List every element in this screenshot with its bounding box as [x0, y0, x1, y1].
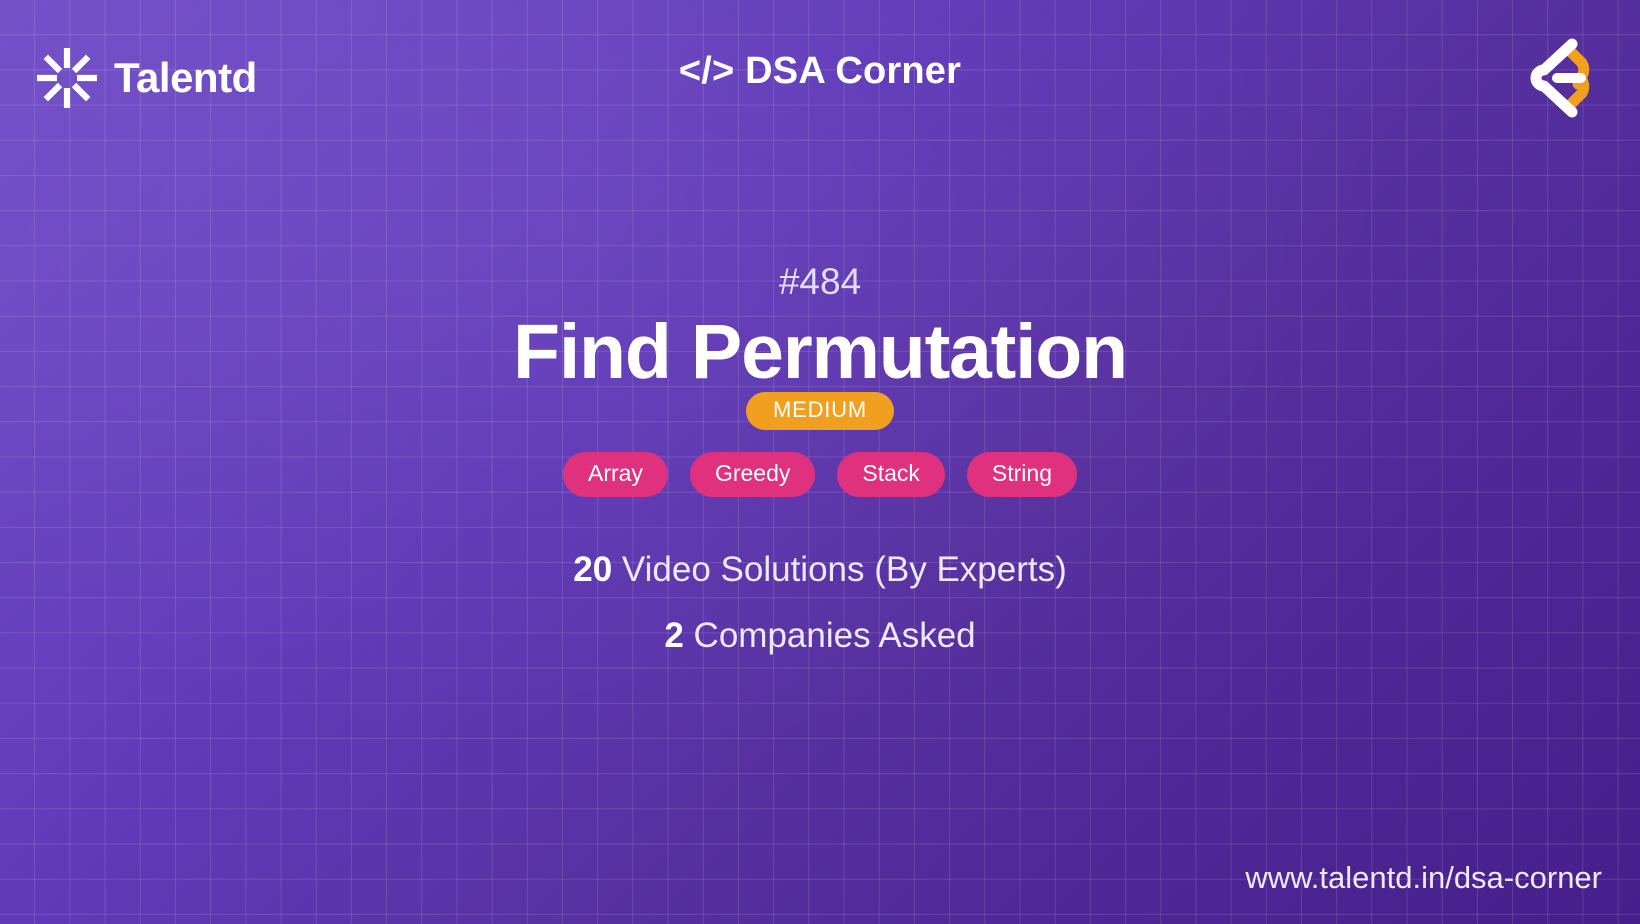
tag-pill[interactable]: String — [967, 452, 1077, 497]
tag-pill[interactable]: Greedy — [690, 452, 815, 497]
stat-value: 20 — [573, 550, 612, 589]
tag-pill[interactable]: Stack — [837, 452, 945, 497]
stat-companies-asked: 2 Companies Asked — [0, 603, 1640, 670]
stat-label: Video Solutions (By Experts) — [622, 550, 1067, 589]
difficulty-row: MEDIUM — [0, 392, 1640, 430]
stat-value: 2 — [664, 616, 683, 655]
brand-logo[interactable]: Talentd — [36, 47, 257, 109]
problem-card: #484 Find Permutation MEDIUM Array Greed… — [0, 262, 1640, 670]
status-badge-difficulty: MEDIUM — [746, 392, 894, 430]
tag-pill[interactable]: Array — [563, 452, 668, 497]
talentd-asterisk-icon — [36, 47, 98, 109]
stat-label: Companies Asked — [694, 616, 976, 655]
brand-name: Talentd — [114, 57, 257, 99]
stat-video-solutions: 20 Video Solutions (By Experts) — [0, 537, 1640, 604]
footer-url[interactable]: www.talentd.in/dsa-corner — [1245, 860, 1602, 896]
poster-header: Talentd </> DSA Corner — [0, 0, 1640, 155]
stats-list: 20 Video Solutions (By Experts) 2 Compan… — [0, 537, 1640, 670]
dsa-corner-poster: Talentd </> DSA Corner #484 Find Permuta… — [0, 0, 1640, 924]
talentd-c-monogram-icon[interactable] — [1524, 36, 1604, 120]
tag-list: Array Greedy Stack String — [0, 452, 1640, 497]
problem-title: Find Permutation — [0, 311, 1640, 394]
problem-number: #484 — [0, 262, 1640, 303]
